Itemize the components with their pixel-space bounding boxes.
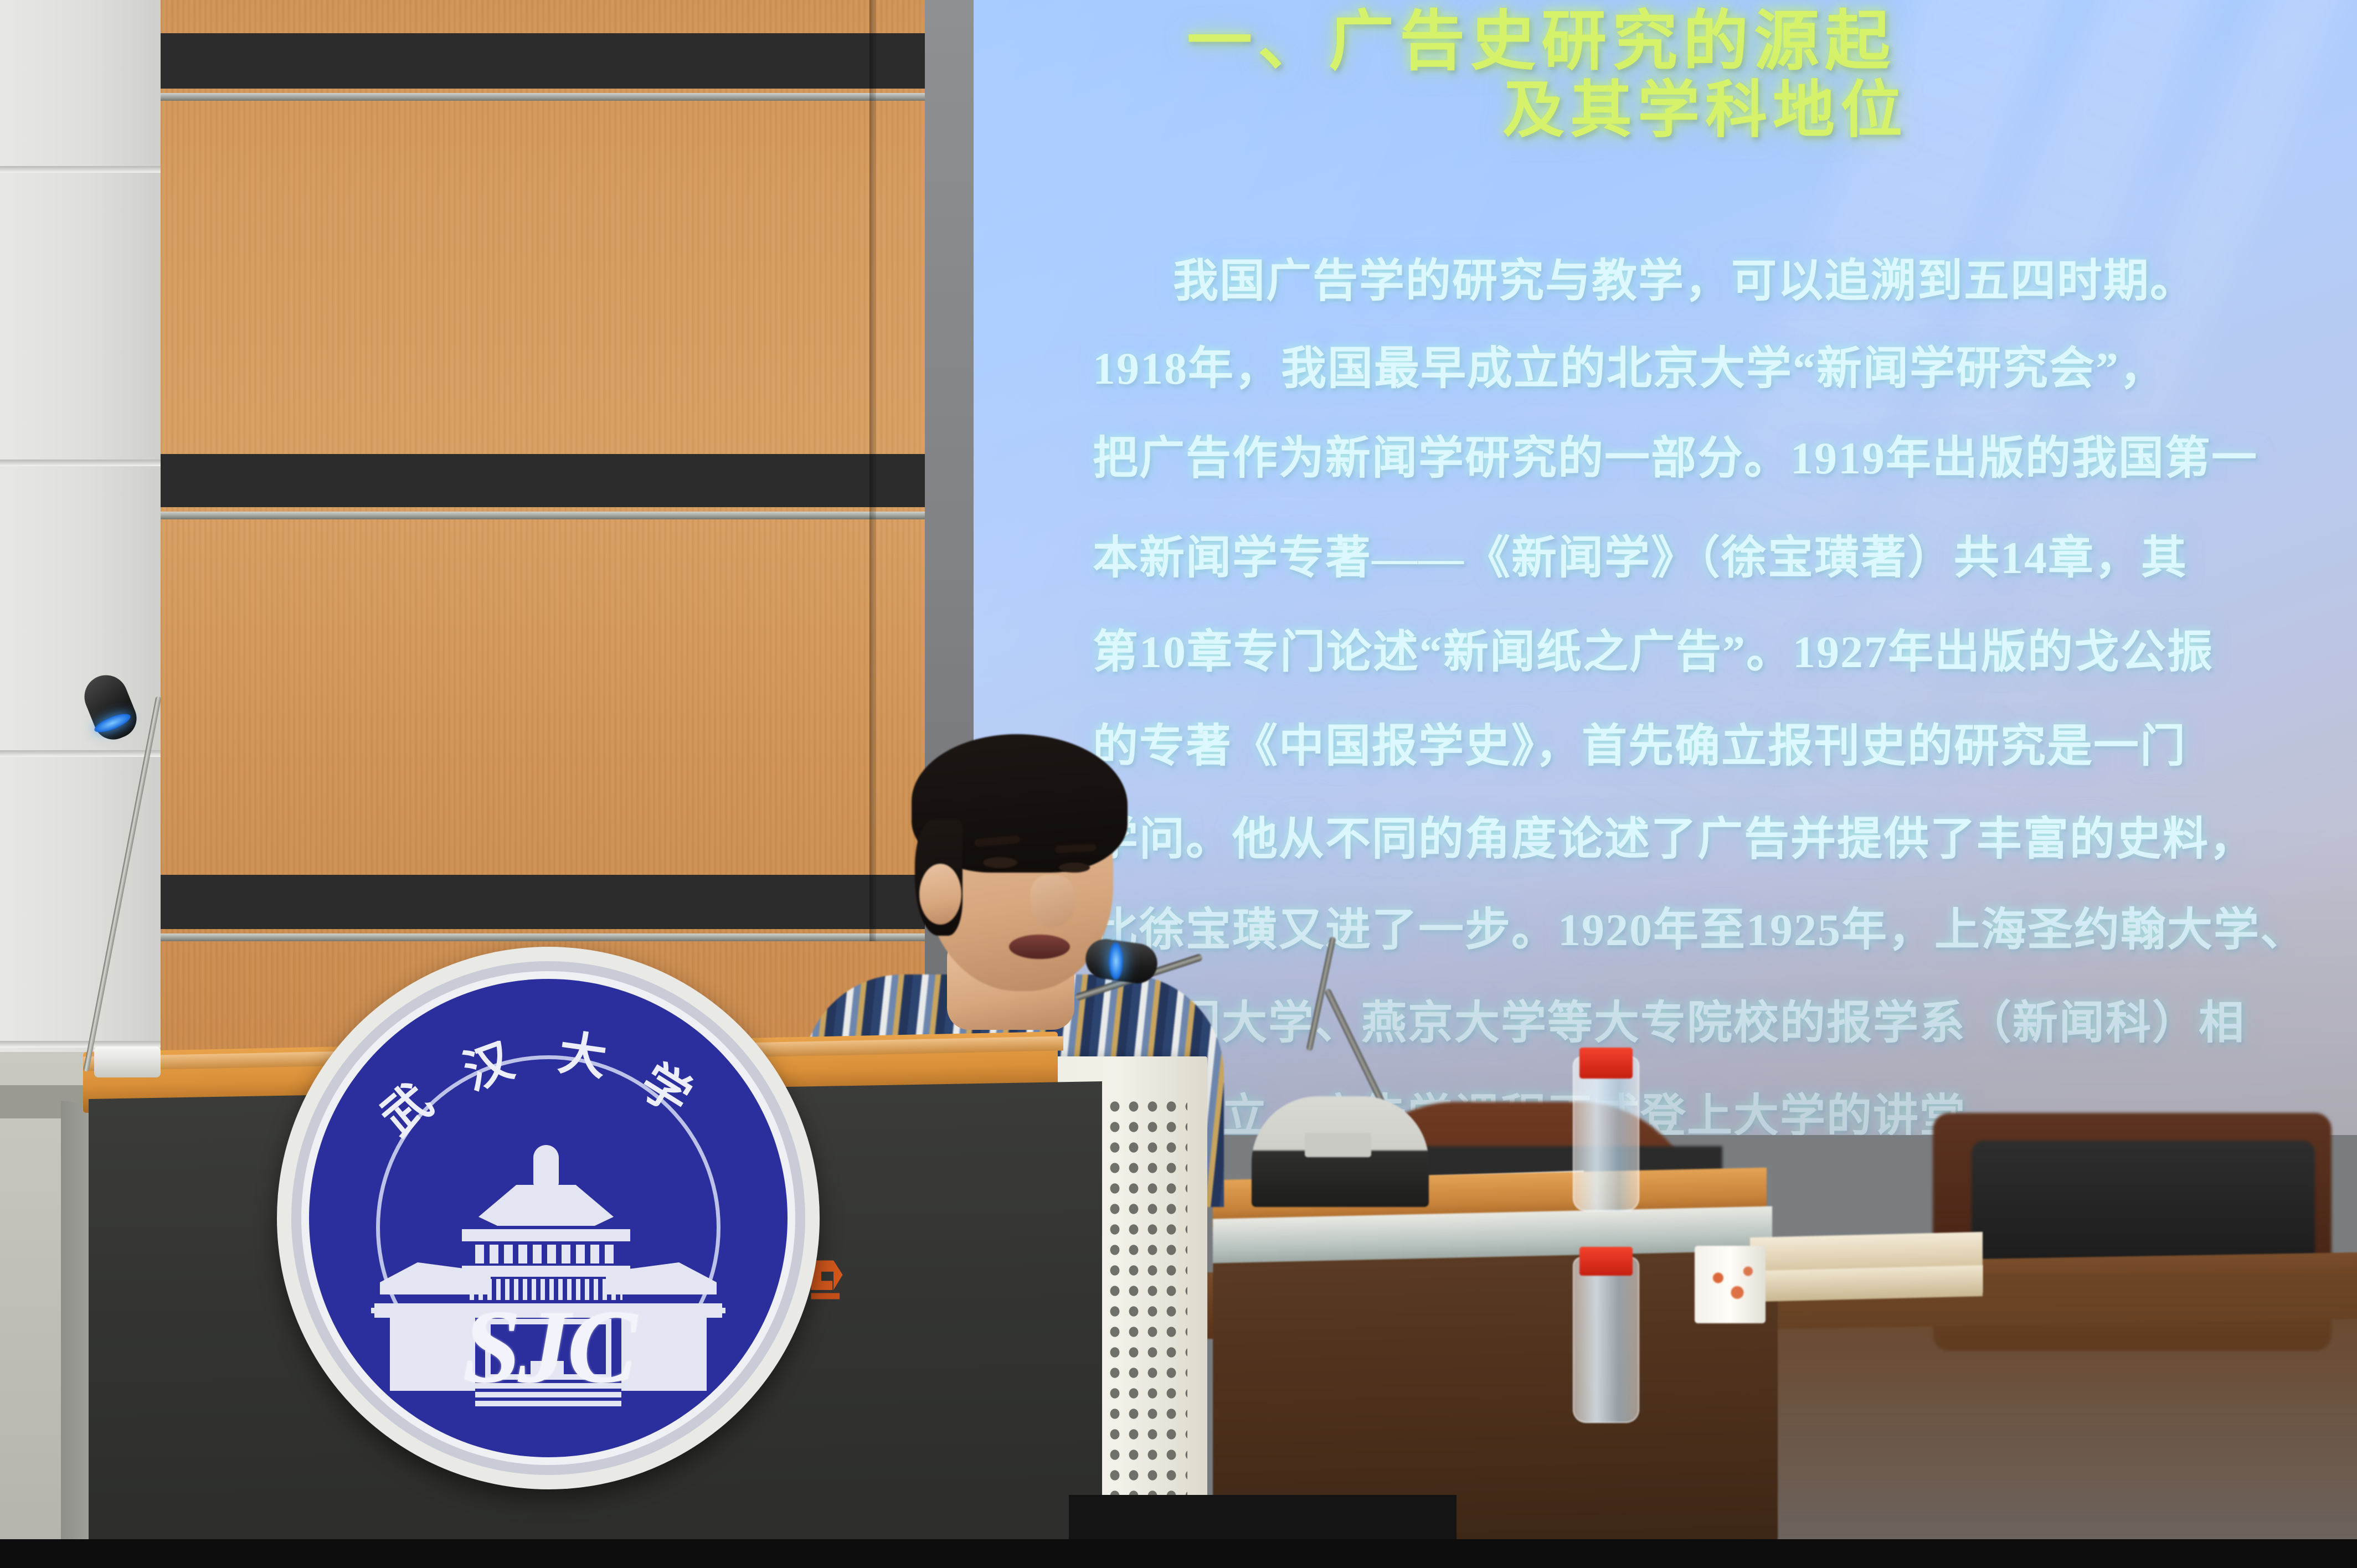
- microphone-led-ring: [1109, 942, 1123, 980]
- emblem-char-3: 大: [555, 1014, 612, 1089]
- emblem-building-colonnade-1: [475, 1245, 617, 1263]
- water-bottle-cap-lower: [1579, 1247, 1633, 1276]
- water-bottle-lower: [1573, 1257, 1639, 1423]
- speaker-eye-right: [1059, 863, 1090, 873]
- emblem-sjc-text: SJC: [309, 1287, 788, 1407]
- lectern-microphone-base: [94, 1046, 161, 1077]
- speaker-mouth: [1009, 935, 1070, 959]
- stacked-books-lower: [1761, 1265, 1983, 1302]
- wall-panel-left: [0, 0, 161, 1135]
- emblem-building-cornice-1: [462, 1229, 630, 1241]
- wall-wood-panelling: [161, 0, 925, 1085]
- slide-body-line-3: 把广告作为新闻学研究的一部分。1919年出版的我国第一: [1093, 421, 2258, 487]
- wuhan-university-sjc-emblem: 武 汉 大 学 SJC: [277, 947, 820, 1489]
- water-bottle-cap-upper: [1579, 1048, 1633, 1079]
- water-bottle-upper: [1573, 1056, 1639, 1211]
- slide-body-line-4: 本新闻学专著——《新闻学》（徐宝璜著）共14章，其: [1093, 520, 2188, 586]
- speaker-ear: [919, 864, 961, 925]
- foreground-floor: [0, 1539, 2357, 1568]
- slide-title-line-2: 及其学科地位: [1502, 60, 1908, 149]
- slide-body-line-2: 1918年，我国最早成立的北京大学“新闻学研究会”，: [1093, 331, 2166, 397]
- paper-cup: [1695, 1246, 1766, 1323]
- speaker-eye-left: [983, 857, 1017, 868]
- slide-body-line-1: 我国广告学的研究与教学，可以追溯到五四时期。: [1173, 244, 2196, 310]
- slide-body-line-5: 第10章专门论述“新闻纸之广告”。1927年出版的戈公振: [1093, 615, 2214, 680]
- photo-scene: 一、广告史研究的源起 及其学科地位 我国广告学的研究与教学，可以追溯到五四时期。…: [0, 0, 2357, 1568]
- emblem-building-finial: [533, 1145, 559, 1187]
